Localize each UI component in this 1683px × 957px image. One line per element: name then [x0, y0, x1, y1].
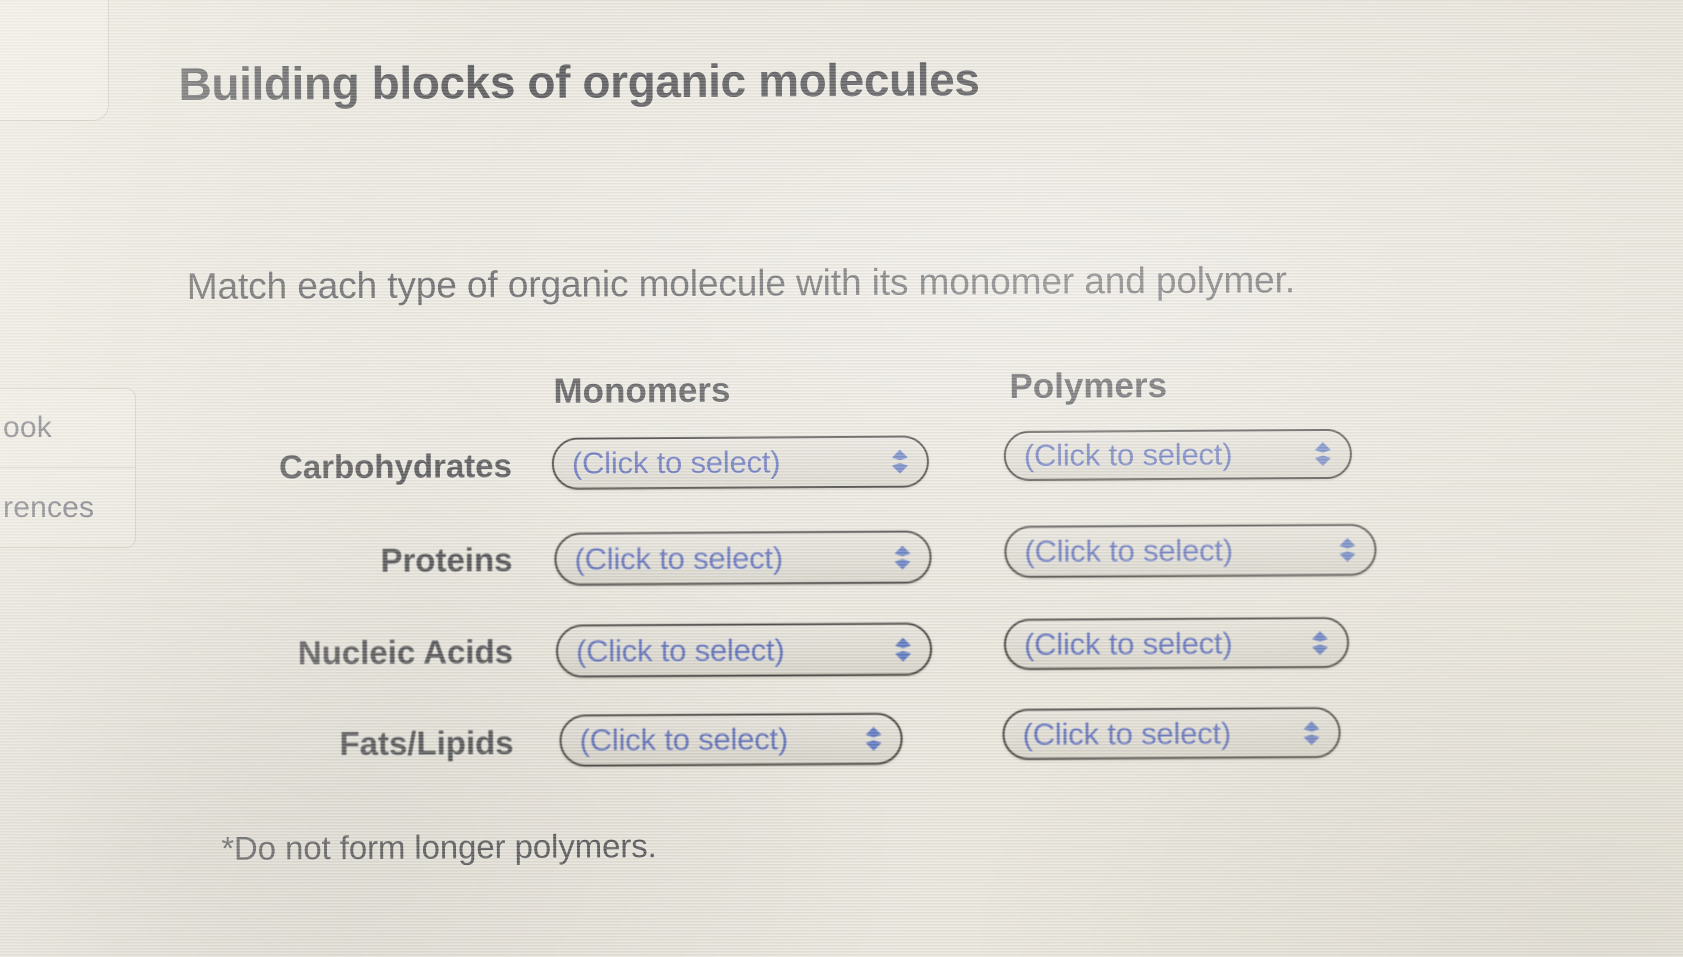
page-title: Building blocks of organic molecules — [178, 52, 979, 111]
row-label-nucleic-acids: Nucleic Acids — [233, 633, 513, 673]
monomer-select-proteins[interactable]: (Click to select) — [554, 530, 931, 585]
chevron-up-down-icon — [1306, 441, 1340, 467]
footnote-text: *Do not form longer polymers. — [221, 827, 657, 868]
monomer-select-value: (Click to select) — [554, 444, 883, 482]
column-header-monomers: Monomers — [553, 371, 730, 412]
monomer-select-value: (Click to select) — [556, 539, 885, 577]
polymer-select-nucleic-acids[interactable]: (Click to select) — [1004, 617, 1349, 670]
chevron-up-down-icon — [857, 726, 891, 752]
row-label-carbohydrates: Carbohydrates — [222, 447, 512, 487]
monomer-select-nucleic-acids[interactable]: (Click to select) — [556, 622, 932, 677]
chevron-up-down-icon — [1294, 720, 1328, 746]
monomer-select-value: (Click to select) — [558, 631, 886, 669]
monomer-select-carbohydrates[interactable]: (Click to select) — [552, 435, 929, 489]
row-label-proteins: Proteins — [226, 541, 512, 581]
polymer-select-value: (Click to select) — [1006, 532, 1330, 570]
polymer-select-proteins[interactable]: (Click to select) — [1004, 524, 1376, 578]
polymer-select-fats-lipids[interactable]: (Click to select) — [1002, 707, 1340, 760]
column-header-polymers: Polymers — [1009, 366, 1167, 407]
row-label-fats-lipids: Fats/Lipids — [245, 724, 513, 764]
exercise-content: Building blocks of organic molecules Mat… — [0, 0, 1683, 957]
polymer-select-value: (Click to select) — [1006, 625, 1303, 663]
polymer-select-value: (Click to select) — [1004, 715, 1294, 753]
chevron-up-down-icon — [886, 636, 920, 662]
chevron-up-down-icon — [1330, 537, 1364, 563]
chevron-up-down-icon — [1303, 629, 1337, 655]
polymer-select-value: (Click to select) — [1006, 436, 1306, 474]
polymer-select-carbohydrates[interactable]: (Click to select) — [1004, 429, 1352, 481]
chevron-up-down-icon — [885, 544, 919, 570]
monomer-select-value: (Click to select) — [561, 721, 856, 759]
monomer-select-fats-lipids[interactable]: (Click to select) — [559, 713, 902, 767]
screenshot-root: + ook rences Building blocks of organic … — [0, 0, 1683, 957]
instruction-text: Match each type of organic molecule with… — [187, 259, 1295, 308]
chevron-up-down-icon — [883, 449, 917, 475]
